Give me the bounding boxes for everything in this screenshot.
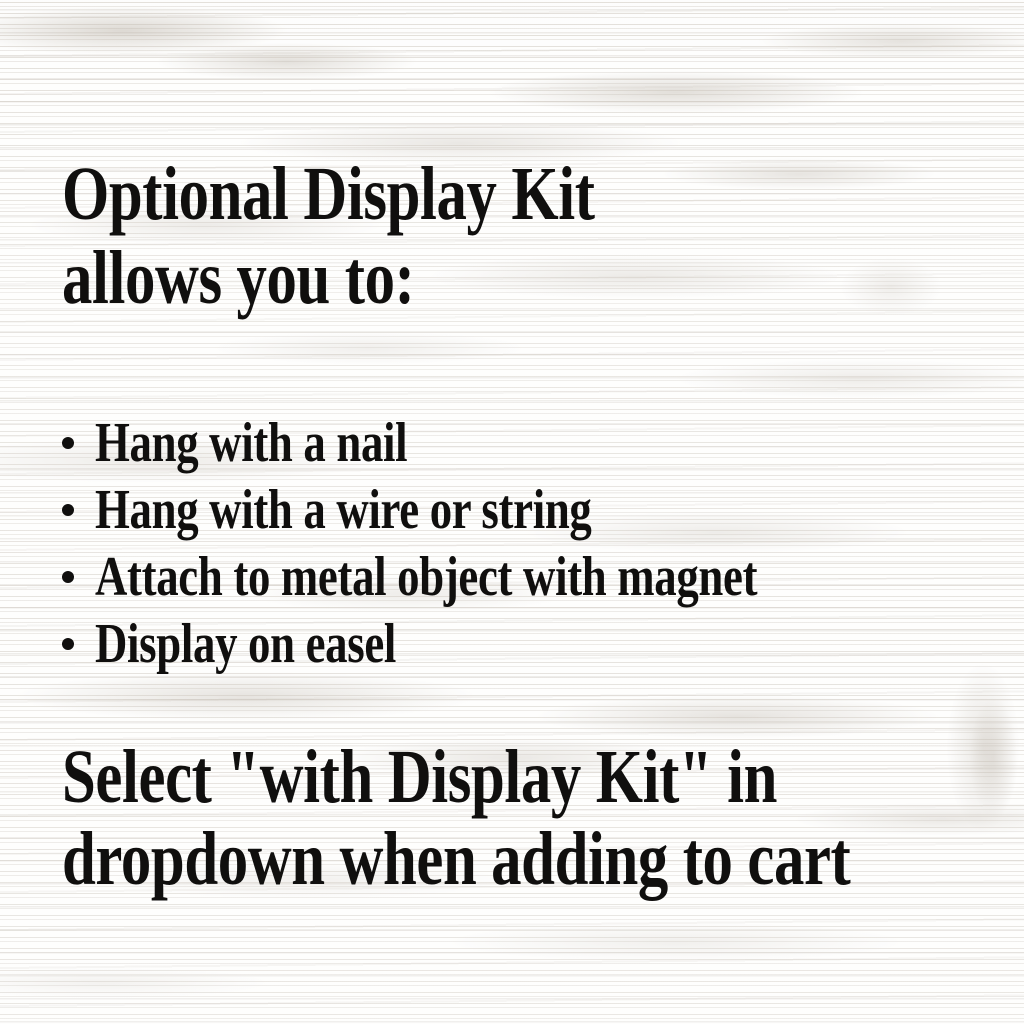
bullet-dot-icon	[62, 504, 74, 516]
feature-bullet-list: Hang with a nail Hang with a wire or str…	[62, 414, 923, 682]
heading: Optional Display Kit allows you to:	[62, 152, 728, 320]
list-item: Attach to metal object with magnet	[62, 548, 923, 615]
list-item: Display on easel	[62, 615, 923, 682]
heading-line-1: Optional Display Kit	[62, 152, 595, 236]
footer-instruction: Select "with Display Kit" in dropdown wh…	[62, 736, 1024, 900]
list-item-label: Hang with a nail	[95, 414, 407, 472]
bullet-dot-icon	[62, 437, 74, 449]
content-container: Optional Display Kit allows you to: Hang…	[0, 0, 1024, 1024]
bullet-dot-icon	[62, 571, 74, 583]
list-item-label: Hang with a wire or string	[95, 481, 592, 539]
heading-line-2: allows you to:	[62, 236, 595, 320]
list-item-label: Display on easel	[95, 615, 396, 673]
footer-line-2: dropdown when adding to cart	[62, 818, 850, 900]
bullet-dot-icon	[62, 638, 74, 650]
list-item: Hang with a wire or string	[62, 481, 923, 548]
list-item: Hang with a nail	[62, 414, 923, 481]
product-info-graphic: Optional Display Kit allows you to: Hang…	[0, 0, 1024, 1024]
list-item-label: Attach to metal object with magnet	[95, 548, 757, 606]
footer-line-1: Select "with Display Kit" in	[62, 736, 850, 818]
